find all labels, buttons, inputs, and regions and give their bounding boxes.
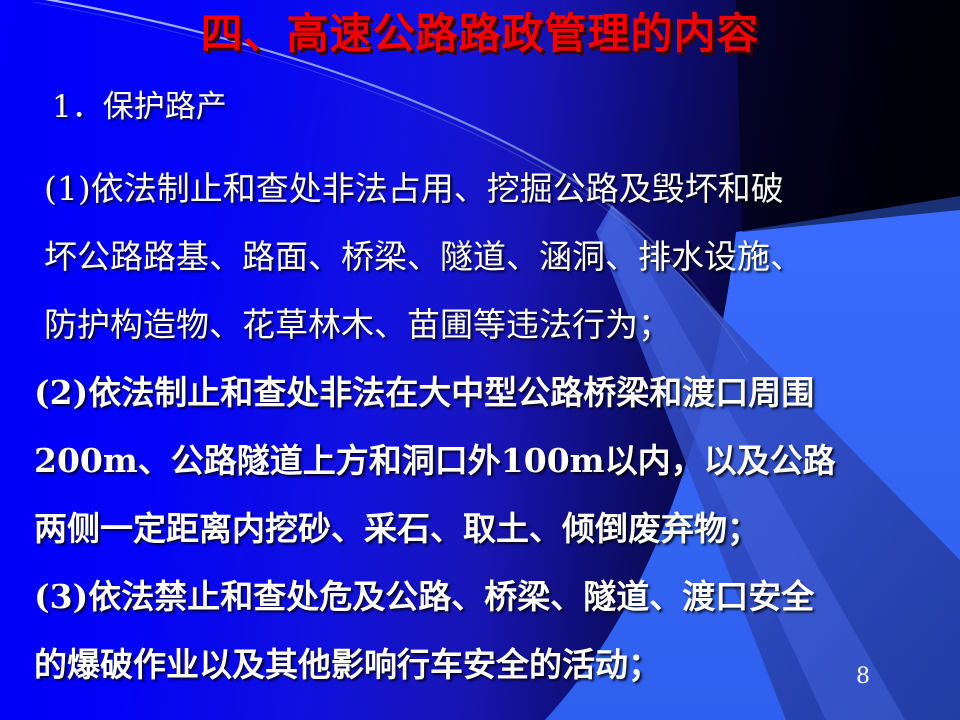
paragraph-line: 两侧一定距离内挖砂、采石、取土、倾倒废弃物； <box>34 495 934 563</box>
page-number: 8 <box>856 666 870 688</box>
paragraph-line: 200m、公路隧道上方和洞口外100m以内，以及公路 <box>34 427 934 495</box>
presentation-slide: 四、高速公路路政管理的内容 1．保护路产 (1)依法制止和查处非法占用、挖掘公路… <box>0 0 960 720</box>
paragraph-line: 的爆破作业以及其他影响行车安全的活动； <box>34 631 934 699</box>
paragraph-line: 坏公路路基、路面、桥梁、隧道、涵洞、排水设施、 <box>44 223 934 291</box>
paragraph-line: 防护构造物、花草林木、苗圃等违法行为； <box>44 291 934 359</box>
list-item: (1)依法制止和查处非法占用、挖掘公路及毁坏和破 坏公路路基、路面、桥梁、隧道、… <box>44 155 934 359</box>
paragraph-line: (1)依法制止和查处非法占用、挖掘公路及毁坏和破 <box>44 155 934 223</box>
paragraph-line: (3)依法禁止和查处危及公路、桥梁、隧道、渡口安全 <box>34 563 934 631</box>
section-heading: 1．保护路产 <box>52 88 227 127</box>
list-item: (3)依法禁止和查处危及公路、桥梁、隧道、渡口安全 的爆破作业以及其他影响行车安… <box>34 563 934 699</box>
body-content: (1)依法制止和查处非法占用、挖掘公路及毁坏和破 坏公路路基、路面、桥梁、隧道、… <box>34 155 934 699</box>
title-bar: 四、高速公路路政管理的内容 <box>0 10 960 57</box>
page-title: 四、高速公路路政管理的内容 <box>200 10 759 57</box>
list-item: (2)依法制止和查处非法在大中型公路桥梁和渡口周围 200m、公路隧道上方和洞口… <box>34 359 934 563</box>
paragraph-line: (2)依法制止和查处非法在大中型公路桥梁和渡口周围 <box>34 359 934 427</box>
